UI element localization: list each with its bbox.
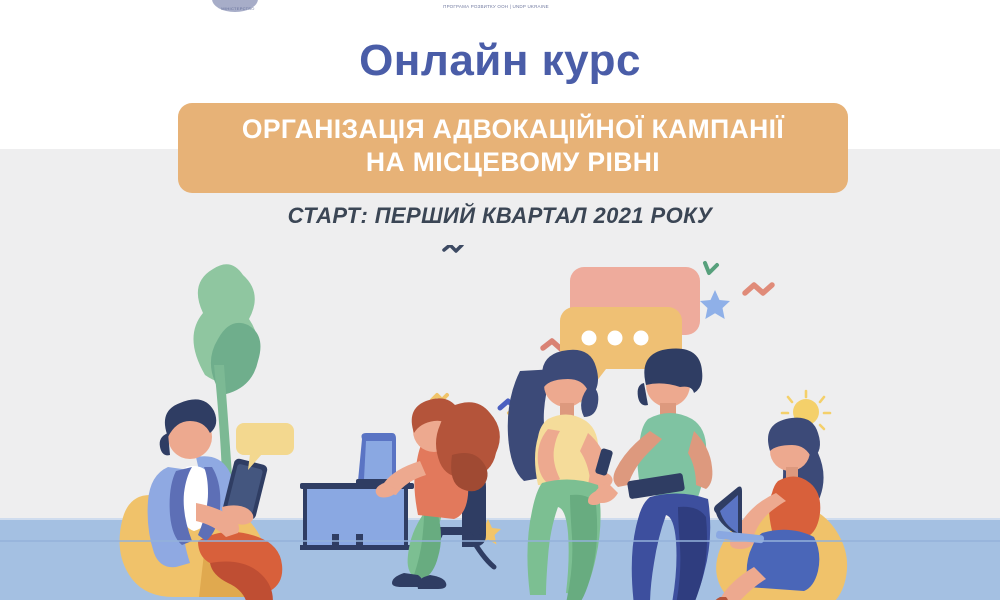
bubble-dot-2 [608, 331, 623, 346]
header-logo-strip: МІНІСТЕРСТВО ПРОГРАМА РОЗВИТКУ ООН | UND… [0, 0, 1000, 13]
figure-woman-desk-laptop [300, 398, 500, 589]
bubble-dot-3 [634, 331, 649, 346]
figure-woman-beanbag-laptop [714, 391, 848, 600]
scene-illustration [0, 245, 1000, 600]
zigzag-icon-pink-right [745, 285, 772, 293]
poster-canvas: МІНІСТЕРСТВО ПРОГРАМА РОЗВИТКУ ООН | UND… [0, 0, 1000, 600]
banner-line-2: НА МІСЦЕВОМУ РІВНІ [196, 146, 830, 179]
figure-standing-woman-phone [508, 350, 614, 600]
page-title: Онлайн курс [0, 36, 1000, 86]
squiggle-icon-dark [444, 245, 462, 251]
check-icon-green [705, 263, 717, 273]
course-name-banner: ОРГАНІЗАЦІЯ АДВОКАЦІЙНОЇ КАМПАНІЇ НА МІС… [178, 103, 848, 193]
logo-left-caption: МІНІСТЕРСТВО [198, 6, 278, 11]
bubble-dot-1 [582, 331, 597, 346]
star-icon-blue [700, 290, 730, 319]
start-date-subtitle: СТАРТ: ПЕРШИЙ КВАРТАЛ 2021 РОКУ [0, 203, 1000, 229]
logo-right-caption: ПРОГРАМА РОЗВИТКУ ООН | UNDP UKRAINE [416, 4, 576, 9]
banner-line-1: ОРГАНІЗАЦІЯ АДВОКАЦІЙНОЇ КАМПАНІЇ [196, 113, 830, 146]
